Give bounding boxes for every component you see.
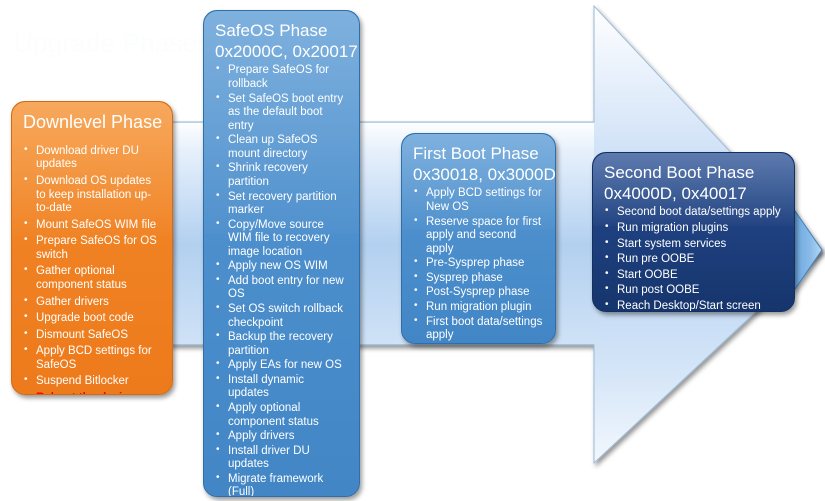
phase-step: Apply EAs for new OS	[215, 359, 348, 373]
phase-step: Pre-Sysprep phase	[413, 257, 544, 271]
phase-step: Copy/Move source WIM file to recovery im…	[215, 219, 348, 260]
phase-step: Download OS updates to keep installation…	[23, 175, 161, 216]
phase-card-first-boot[interactable]: First Boot Phase 0x30018, 0x3000D Apply …	[401, 133, 556, 344]
phase-step: Run migration plugin	[413, 301, 544, 315]
phase-steps-downlevel: Download driver DU updates Download OS u…	[23, 145, 161, 395]
phase-steps-first-boot: Apply BCD settings for New OS Reserve sp…	[413, 187, 544, 344]
phase-steps-second-boot: Second boot data/settings apply Run migr…	[604, 206, 783, 312]
phase-step: Dismount SafeOS	[23, 329, 161, 343]
phase-step: Post-Sysprep phase	[413, 286, 544, 300]
phase-step: Suspend Bitlocker	[23, 375, 161, 389]
phase-step: Apply BCD settings for New OS	[413, 187, 544, 214]
phase-step: Clean up SafeOS mount directory	[215, 134, 348, 161]
phase-step: Run post OOBE	[604, 284, 783, 298]
phase-step: Run migration plugins	[604, 222, 783, 236]
phase-step: Shrink recovery partition	[215, 162, 348, 189]
diagram-watermark-title: Upgrade Phases	[14, 28, 210, 59]
phase-step: Start OOBE	[604, 269, 783, 283]
phase-card-safeos[interactable]: SafeOS Phase 0x2000C, 0x20017 Prepare Sa…	[203, 10, 360, 497]
phase-step: Start system services	[604, 238, 783, 252]
phase-step: Apply BCD settings for SafeOS	[23, 345, 161, 372]
phase-step: Backup the recovery partition	[215, 331, 348, 358]
phase-step: Install dynamic updates	[215, 374, 348, 401]
phase-step: Set SafeOS boot entry as the default boo…	[215, 93, 348, 134]
phase-step: Reserve space for first apply and second…	[413, 216, 544, 257]
phase-step: Prepare SafeOS for rollback	[215, 64, 348, 91]
phase-step: First boot data/settings apply	[413, 316, 544, 343]
phase-step: Sysprep phase	[413, 272, 544, 286]
phase-step: Upgrade boot code	[23, 312, 161, 326]
phase-steps-safeos: Prepare SafeOS for rollback Set SafeOS b…	[215, 64, 348, 497]
phase-title-first-boot: First Boot Phase	[413, 144, 544, 164]
phase-code-safeos: 0x2000C, 0x20017	[215, 42, 348, 62]
phase-title-downlevel: Downlevel Phase	[23, 112, 161, 133]
phase-card-second-boot[interactable]: Second Boot Phase 0x4000D, 0x40017 Secon…	[592, 152, 795, 312]
phase-title-safeos: SafeOS Phase	[215, 21, 348, 41]
phase-step: Prepare SafeOS for OS switch	[23, 235, 161, 262]
phase-step: Apply optional component status	[215, 402, 348, 429]
phase-step: Apply new OS WIM	[215, 260, 348, 274]
phase-step: Reach Desktop/Start screen	[604, 300, 783, 312]
phase-step: Install driver DU updates	[215, 445, 348, 472]
phase-title-second-boot: Second Boot Phase	[604, 163, 783, 183]
phase-step: Set OS switch rollback checkpoint	[215, 303, 348, 330]
phase-step: Second boot data/settings apply	[604, 206, 783, 220]
secondary-arrow-tip	[793, 208, 822, 292]
phase-step: Mount SafeOS WIM file	[23, 219, 161, 233]
phase-step: Add boot entry for new OS	[215, 275, 348, 302]
phase-step: Run pre OOBE	[604, 253, 783, 267]
phase-step-reboot: Reboot the device	[23, 392, 161, 395]
upgrade-phases-diagram: Upgrade Phases Downlevel Phase Download …	[0, 0, 825, 501]
phase-step: Apply drivers	[215, 430, 348, 444]
phase-card-downlevel[interactable]: Downlevel Phase Download driver DU updat…	[11, 101, 173, 395]
phase-step: Gather drivers	[23, 296, 161, 310]
phase-step: Gather optional component status	[23, 265, 161, 292]
phase-step: Download driver DU updates	[23, 145, 161, 172]
phase-code-second-boot: 0x4000D, 0x40017	[604, 184, 783, 204]
phase-step: Set recovery partition marker	[215, 191, 348, 218]
phase-step: Migrate framework (Full)	[215, 473, 348, 497]
phase-code-first-boot: 0x30018, 0x3000D	[413, 165, 544, 185]
